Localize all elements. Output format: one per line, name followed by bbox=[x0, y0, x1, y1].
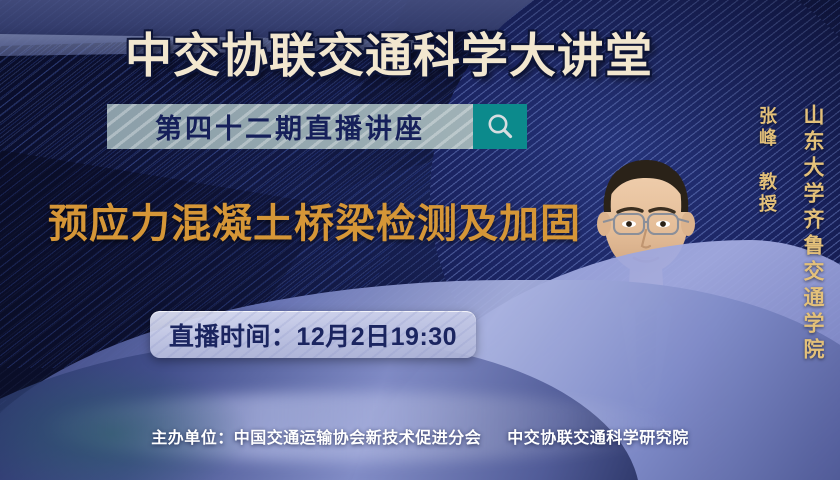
search-icon bbox=[485, 112, 515, 142]
footer-organizer-2: 中交协联交通科学研究院 bbox=[507, 430, 689, 447]
footer-label: 主办单位： bbox=[151, 430, 234, 447]
speaker-affiliation: 山东大学齐鲁交通学院 bbox=[797, 104, 827, 364]
lecture-title: 预应力混凝土桥梁检测及加固 bbox=[48, 191, 581, 249]
live-time-text: 直播时间：12月2日19:30 bbox=[169, 317, 457, 353]
subtitle-bar-body: 第四十二期直播讲座 bbox=[107, 104, 473, 149]
live-lecture-poster: 中交协联交通科学大讲堂 第四十二期直播讲座 预应力混凝土桥梁检测及加固 直播时间… bbox=[0, 0, 840, 480]
live-time-badge: 直播时间：12月2日19:30 bbox=[150, 311, 476, 358]
speaker-role: 教授 bbox=[754, 172, 780, 216]
search-icon-button[interactable] bbox=[473, 104, 527, 149]
speaker-name: 张峰 bbox=[754, 106, 780, 150]
teal-glow bbox=[0, 350, 310, 480]
subtitle-text: 第四十二期直播讲座 bbox=[155, 107, 425, 146]
footer-organizer-1: 中国交通运输协会新技术促进分会 bbox=[234, 430, 482, 447]
subtitle-bar: 第四十二期直播讲座 bbox=[107, 104, 527, 149]
page-title: 中交协联交通科学大讲堂 bbox=[125, 17, 653, 86]
footer-organizers: 主办单位：中国交通运输协会新技术促进分会中交协联交通科学研究院 bbox=[0, 424, 840, 448]
